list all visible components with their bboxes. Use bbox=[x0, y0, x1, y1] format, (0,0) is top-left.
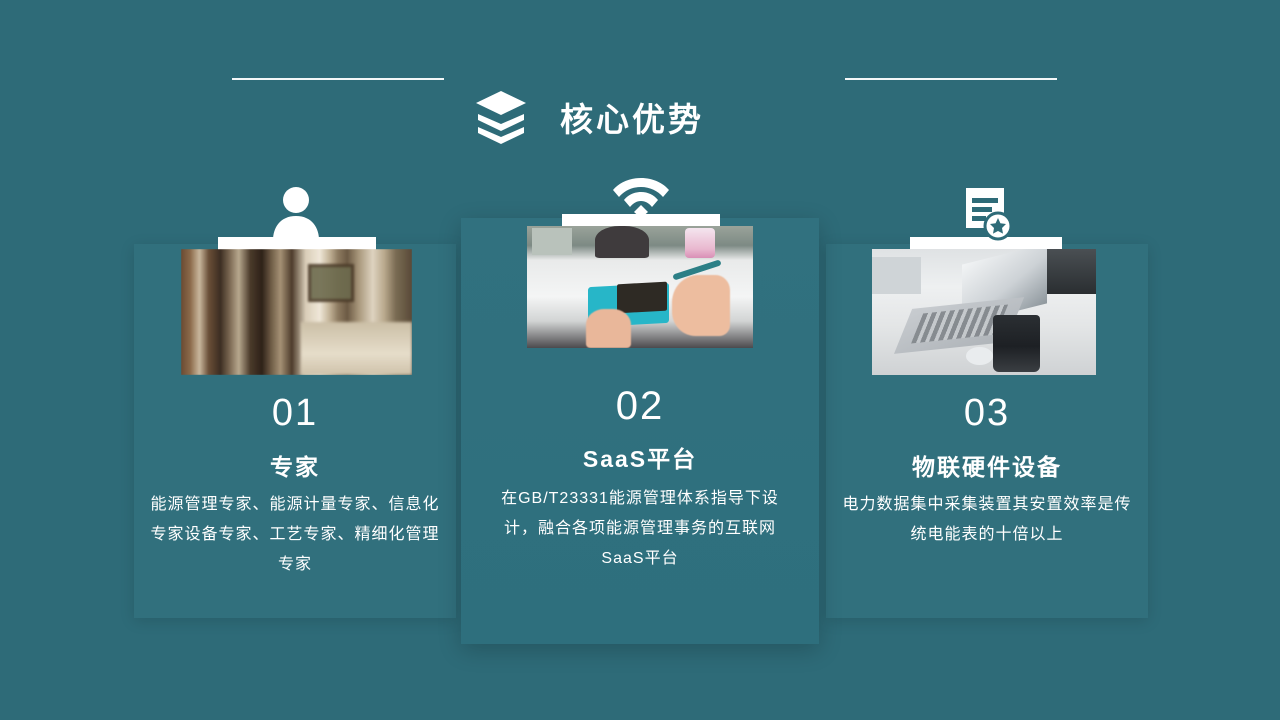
card-caption: SaaS平台 bbox=[461, 440, 819, 474]
card-description: 能源管理专家、能源计量专家、信息化专家设备专家、工艺专家、精细化管理专家 bbox=[134, 490, 456, 580]
card-photo-library bbox=[181, 249, 412, 375]
card-number: 02 bbox=[461, 384, 819, 429]
certificate-star-icon bbox=[960, 186, 1010, 242]
layer-stack-icon bbox=[470, 86, 532, 148]
card-description: 在GB/T23331能源管理体系指导下设计，融合各项能源管理事务的互联网SaaS… bbox=[461, 484, 819, 574]
page-title: 核心优势 bbox=[560, 92, 880, 148]
card-caption: 物联硬件设备 bbox=[826, 448, 1148, 482]
card-caption: 专家 bbox=[134, 448, 456, 482]
card-number: 01 bbox=[134, 392, 456, 435]
slide-header: 核心优势 bbox=[0, 42, 1280, 118]
wifi-icon bbox=[612, 174, 670, 218]
card-photo-laptop bbox=[872, 249, 1096, 375]
card-photo-desk-meeting bbox=[527, 226, 753, 348]
header-rule-right bbox=[845, 78, 1057, 80]
slide-canvas: 核心优势 01 专家 能源管理专家、能源计量专家、信息化专家设备专家、工艺专家、… bbox=[0, 0, 1280, 720]
card-description: 电力数据集中采集装置其安置效率是传统电能表的十倍以上 bbox=[826, 490, 1148, 550]
card-number: 03 bbox=[826, 392, 1148, 435]
person-icon bbox=[270, 184, 322, 240]
header-rule-left bbox=[232, 78, 444, 80]
